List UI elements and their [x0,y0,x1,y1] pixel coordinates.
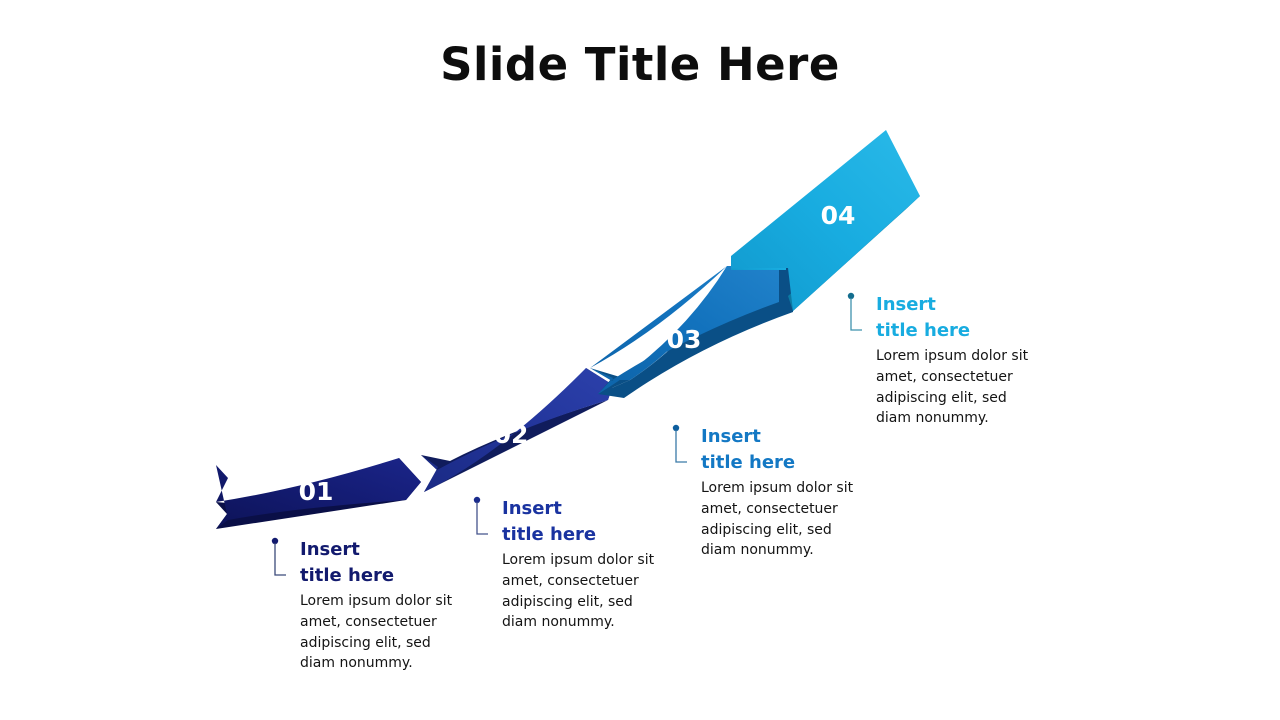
segment-02-number: 02 [494,420,529,449]
callout-step-03[interactable]: Insert title here Lorem ipsum dolor sit … [668,424,868,561]
callout-title-02: Insert title here [502,496,669,547]
callout-text-02: Insert title here Lorem ipsum dolor sit … [502,496,669,633]
connector-line-icon [843,292,865,336]
callout-body-01: Lorem ipsum dolor sit amet, consectetuer… [300,591,467,674]
segment-03-number: 03 [667,325,702,354]
connector-line-icon [668,424,690,468]
connector-line-icon [469,496,491,540]
arrow-segment-03[interactable]: 03 [590,266,793,398]
segment-04-number: 04 [821,201,856,230]
callout-body-02: Lorem ipsum dolor sit amet, consectetuer… [502,550,669,633]
callout-body-03: Lorem ipsum dolor sit amet, consectetuer… [701,478,868,561]
callout-title-04: Insert title here [876,292,1043,343]
callout-title-01: Insert title here [300,537,467,588]
callout-body-04: Lorem ipsum dolor sit amet, consectetuer… [876,346,1043,429]
arrow-segment-02[interactable]: 02 [421,368,613,492]
connector-line-icon [267,537,289,581]
callout-step-01[interactable]: Insert title here Lorem ipsum dolor sit … [267,537,467,674]
callout-step-04[interactable]: Insert title here Lorem ipsum dolor sit … [843,292,1043,429]
callout-step-02[interactable]: Insert title here Lorem ipsum dolor sit … [469,496,669,633]
callout-text-04: Insert title here Lorem ipsum dolor sit … [876,292,1043,429]
callout-title-03: Insert title here [701,424,868,475]
callout-text-01: Insert title here Lorem ipsum dolor sit … [300,537,467,674]
callout-text-03: Insert title here Lorem ipsum dolor sit … [701,424,868,561]
segment-01-number: 01 [299,477,334,506]
arrow-segment-01[interactable]: 01 [216,458,421,529]
